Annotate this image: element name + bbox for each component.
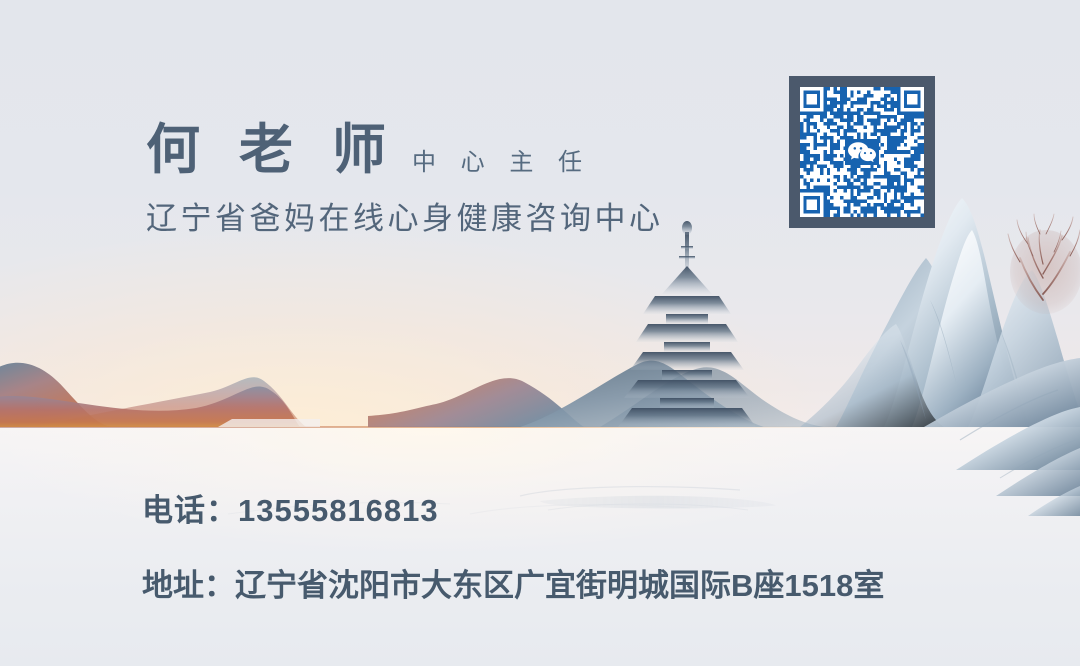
organization-name: 辽宁省爸妈在线心身健康咨询中心 xyxy=(146,193,664,238)
mid-mountain-range xyxy=(368,361,824,427)
pagoda-silhouette xyxy=(618,221,756,427)
person-title: 中 心 主 任 xyxy=(412,142,591,177)
person-name: 何 老 师 xyxy=(146,105,398,184)
left-mountain-range xyxy=(0,363,320,427)
phone-line: 电话：13555816813 xyxy=(142,485,439,530)
wechat-qr-code[interactable] xyxy=(789,76,935,228)
business-card: 何 老 师 中 心 主 任 辽宁省爸妈在线心身健康咨询中心 电话：1355581… xyxy=(0,0,1080,666)
wechat-bubbles-icon xyxy=(845,139,879,165)
address-line: 地址：辽宁省沈阳市大东区广宜街明城国际B座1518室 xyxy=(142,560,884,605)
